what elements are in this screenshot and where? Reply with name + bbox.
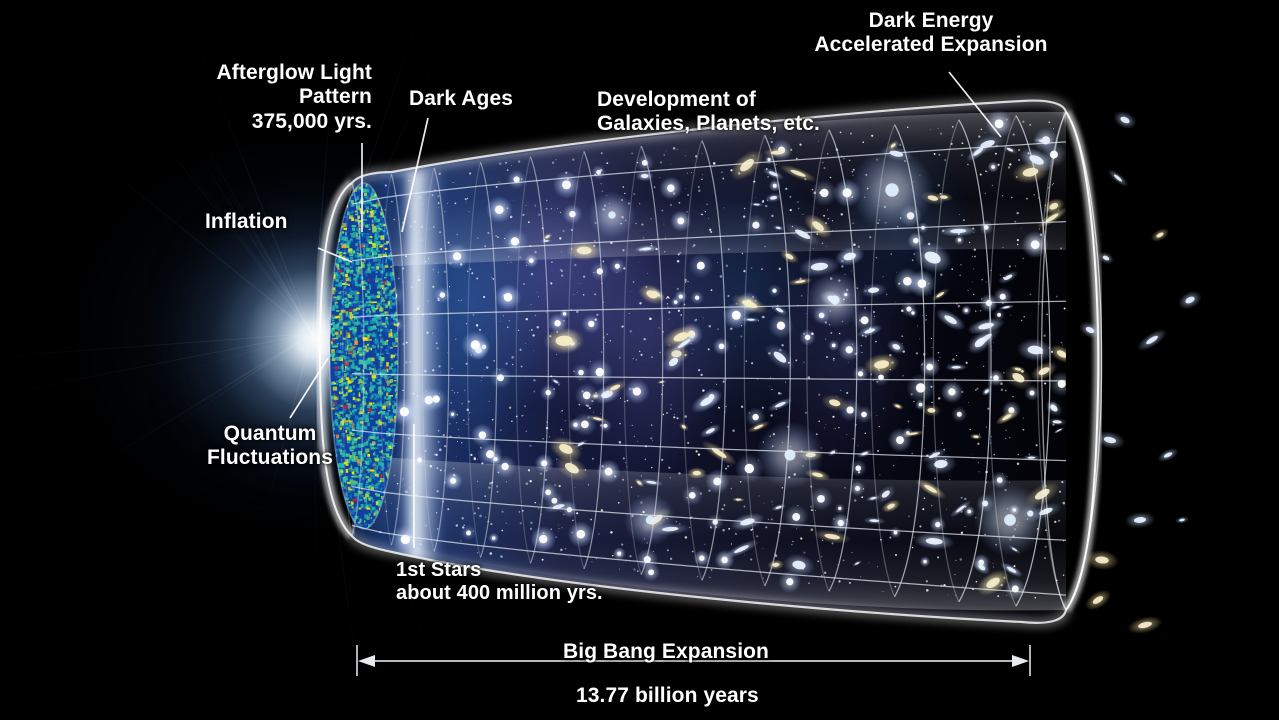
star [452,368,453,369]
star [623,457,625,459]
star [806,313,807,314]
cmb-speckle [352,476,357,478]
star [762,316,765,319]
cmb-speckle [334,393,335,397]
cmb-speckle [353,274,355,276]
cmb-speckle [374,378,375,382]
star [677,288,679,290]
cmb-speckle [369,478,371,482]
star [596,314,598,316]
star [407,457,408,458]
star [607,334,608,335]
cmb-speckle [372,224,374,226]
cmb-speckle [367,405,370,408]
star [693,349,694,350]
cmb-speckle [335,480,338,483]
star [718,407,720,409]
cmb-speckle [346,339,349,343]
star [986,426,987,427]
cmb-speckle [347,415,351,418]
cmb-speckle [359,354,363,356]
cmb-speckle [387,345,390,349]
cmb-speckle [388,330,390,333]
cmb-speckle [384,366,386,369]
cmb-speckle [336,406,339,409]
cmb-speckle [381,370,385,372]
cmb-speckle [345,420,349,422]
star [973,268,974,269]
cmb-speckle [369,504,372,508]
cmb-speckle [349,423,353,427]
cmb-speckle [335,183,339,185]
cmb-speckle [388,272,390,276]
star [577,292,578,293]
star [993,342,994,343]
star [902,375,903,376]
star [473,314,475,316]
bright-star [957,412,962,417]
star [524,405,526,407]
cmb-speckle [333,189,336,192]
star [507,263,508,264]
star [641,354,643,356]
cmb-speckle [337,270,339,273]
cmb-speckle [364,427,366,429]
cmb-speckle [368,433,372,435]
cmb-speckle [344,513,346,516]
star [550,282,552,284]
star [440,371,441,372]
cmb-speckle [392,428,394,432]
cmb-speckle [377,295,380,298]
star [698,453,700,455]
star [1062,345,1063,346]
cmb-speckle [369,316,372,320]
star [632,425,633,426]
star [1005,438,1006,439]
star [511,420,513,422]
cmb-speckle [358,187,360,191]
cmb-speckle [391,385,393,387]
cmb-speckle [346,352,348,355]
star [658,327,659,328]
cmb-speckle [366,491,369,493]
cmb-speckle [345,198,349,201]
cmb-speckle [335,480,337,482]
star [912,259,914,261]
cmb-speckle [335,476,339,479]
star [1021,320,1023,322]
cmb-speckle [367,344,369,345]
cmb-speckle [385,402,390,406]
universe-timeline-diagram: Afterglow Light Pattern 375,000 yrs. Dar… [0,0,1279,720]
star [938,352,940,354]
star [661,459,663,461]
cmb-speckle [391,302,395,305]
cmb-speckle [367,423,369,426]
cmb-speckle [350,292,354,296]
cmb-speckle [335,338,338,340]
cmb-speckle [334,371,338,373]
cmb-speckle [369,284,371,286]
cmb-speckle [385,442,389,445]
bright-star [861,316,869,324]
cmb-speckle [345,512,347,515]
cmb-speckle [382,372,386,374]
star [919,338,920,339]
cmb-speckle [348,505,352,507]
star [601,351,603,353]
star [972,281,973,282]
star [560,411,561,412]
star [826,356,828,358]
star [484,369,485,370]
cmb-speckle [364,514,368,518]
cmb-speckle [338,479,340,481]
cmb-speckle [366,486,369,488]
cmb-speckle [342,205,344,209]
cmb-speckle [363,234,366,237]
cmb-speckle [365,282,367,284]
cmb-speckle [345,304,349,308]
cmb-speckle [350,239,353,241]
cmb-speckle [373,370,377,373]
cmb-speckle [353,397,356,400]
bright-star [432,395,439,402]
cmb-speckle [376,494,380,497]
cmb-speckle [348,404,351,408]
cmb-speckle [365,484,369,486]
cmb-speckle [359,392,360,396]
cmb-speckle [334,233,337,235]
star [537,292,538,293]
cmb-speckle [389,307,392,309]
cmb-speckle [372,252,374,256]
cmb-speckle [376,401,380,403]
star [890,253,892,255]
cmb-speckle [386,457,389,461]
cmb-speckle [343,322,347,325]
cmb-speckle [350,437,354,441]
star [940,357,941,358]
cmb-speckle [352,452,356,455]
star [937,447,938,448]
star [696,450,698,452]
star [532,334,534,336]
cmb-speckle [374,216,377,219]
star [716,384,717,385]
star [533,391,535,393]
cmb-speckle [375,394,379,397]
star [461,442,463,444]
star [531,273,533,275]
star [833,358,835,360]
cmb-speckle [390,379,393,383]
cmb-speckle [389,395,393,397]
bright-star [752,414,758,420]
cmb-speckle [347,262,349,265]
cmb-speckle [360,322,362,325]
cmb-speckle [355,358,357,361]
cmb-speckle [332,305,336,307]
cmb-speckle [338,292,341,294]
star [525,318,527,320]
star [633,358,634,359]
star [639,302,641,304]
star [486,366,488,368]
bright-star [858,371,863,376]
label-big-bang-expansion: Big Bang Expansion [563,640,769,664]
cmb-speckle [345,200,347,202]
cmb-speckle [382,320,386,323]
cmb-speckle [366,248,371,251]
cmb-speckle [353,378,356,380]
cmb-speckle [391,363,393,367]
star [500,429,502,431]
star [592,458,594,460]
cmb-speckle [344,320,348,322]
cmb-speckle [340,260,342,262]
cmb-speckle [339,495,343,499]
star [851,271,852,272]
star [942,443,943,444]
star [684,415,687,418]
star [507,326,509,328]
star [538,296,539,297]
cmb-speckle [371,517,372,519]
star [460,300,462,302]
cmb-speckle [368,251,370,255]
cmb-speckle [392,330,396,333]
cmb-speckle [353,405,355,407]
cmb-speckle [387,323,389,325]
star [761,268,763,270]
star [877,450,879,452]
cmb-speckle [377,278,382,280]
star [583,276,585,278]
star [771,389,772,390]
cmb-speckle [366,236,370,238]
bright-star [451,413,454,416]
star [436,342,438,344]
cmb-speckle [366,334,368,336]
cmb-speckle [363,254,367,258]
cmb-speckle [375,474,379,477]
star [457,392,458,393]
cmb-speckle [352,251,354,254]
cmb-speckle [376,266,379,270]
star [931,338,932,339]
cmb-speckle [332,236,335,239]
cmb-speckle [366,476,369,478]
star [824,427,825,428]
star [1017,463,1020,466]
bright-star [596,368,605,377]
cmb-speckle [359,360,363,364]
cmb-speckle [388,283,390,285]
star [1010,315,1011,316]
bright-star [948,388,955,395]
cmb-speckle [336,302,338,304]
cmb-speckle [370,391,372,393]
star [402,390,403,391]
cmb-speckle [383,453,387,455]
star [481,380,482,381]
cmb-speckle [332,260,335,264]
star [600,413,601,414]
star [1044,382,1046,384]
cmb-speckle [358,255,360,259]
cmb-speckle [386,273,388,277]
star [533,379,535,381]
star [770,414,772,416]
cmb-speckle [364,499,367,503]
cmb-speckle [383,303,387,306]
star [967,290,968,291]
star [720,275,723,278]
cmb-speckle [333,367,335,369]
cmb-speckle [346,278,350,282]
cmb-speckle [356,456,358,459]
star [563,433,564,434]
cmb-speckle [351,465,353,469]
star [667,303,668,304]
star [636,359,637,360]
star [825,338,826,339]
cmb-speckle [331,341,333,344]
bright-star [1000,294,1006,300]
cmb-speckle [359,245,364,248]
star [406,342,408,344]
star [651,424,652,425]
cmb-speckle [391,414,394,417]
star [1018,454,1019,455]
star [546,312,547,313]
star [1000,275,1001,276]
cmb-speckle [356,368,360,371]
cmb-speckle [351,370,353,372]
star [434,454,435,455]
cmb-speckle [339,183,343,185]
cmb-speckle [371,397,373,400]
bright-star [861,412,867,418]
star [991,436,992,437]
cmb-speckle [370,436,374,439]
star [633,281,635,283]
cmb-speckle [335,374,339,376]
cmb-speckle [337,474,339,478]
star [951,268,953,270]
cmb-speckle [344,356,346,360]
cmb-speckle [389,296,391,300]
star [1023,429,1025,431]
star [801,295,803,297]
cmb-speckle [383,269,385,272]
cmb-speckle [356,448,358,450]
star [536,326,538,328]
arrow-head-left [358,655,375,667]
cmb-speckle [385,318,388,320]
cmb-speckle [357,292,360,294]
cmb-speckle [381,338,383,340]
cmb-speckle [348,314,350,317]
cmb-speckle [359,356,363,359]
cmb-speckle [337,220,341,223]
star [924,448,925,449]
cmb-speckle [367,193,371,197]
star [711,289,713,291]
cmb-speckle [376,353,379,356]
bright-star [679,295,683,299]
cmb-speckle [333,236,335,239]
star [1012,396,1013,397]
star [456,422,457,423]
star [458,436,459,437]
bright-star [772,289,776,293]
star [458,300,459,301]
star [741,406,743,408]
cmb-speckle [337,264,340,268]
star [492,419,494,421]
star [934,478,936,480]
star [952,358,955,361]
star [677,260,680,263]
cmb-speckle [369,229,371,230]
cmb-speckle [366,269,369,273]
star [432,332,433,333]
cmb-speckle [332,247,336,249]
cmb-speckle [359,305,363,308]
cmb-speckle [368,329,372,332]
star [818,420,820,422]
cmb-speckle [336,380,340,382]
cmb-speckle [350,257,353,261]
cmb-speckle [360,495,364,497]
star [589,407,591,409]
star [670,408,671,409]
cmb-speckle [373,328,377,330]
cmb-speckle [373,466,377,469]
star [605,342,606,343]
cmb-speckle [350,393,354,397]
star [509,407,511,409]
star [525,377,526,378]
cmb-speckle [390,274,392,276]
star [560,429,562,431]
star [549,436,550,437]
cmb-speckle [335,366,338,370]
cmb-speckle [343,510,347,514]
cmb-speckle [377,455,379,459]
cmb-speckle [346,377,349,379]
label-development-of-galaxies: Development of Galaxies, Planets, etc. [597,88,820,137]
star [687,442,689,444]
star [670,404,671,405]
star [410,361,411,362]
star [805,412,807,414]
cmb-speckle [341,243,343,245]
star [978,462,979,463]
cmb-speckle [351,234,353,238]
cmb-speckle [375,278,377,280]
cmb-speckle [374,470,376,474]
cmb-speckle [367,409,369,411]
star [993,454,995,456]
cmb-speckle [369,296,372,298]
cmb-speckle [353,499,357,502]
star [651,356,653,358]
cmb-speckle [351,200,354,204]
